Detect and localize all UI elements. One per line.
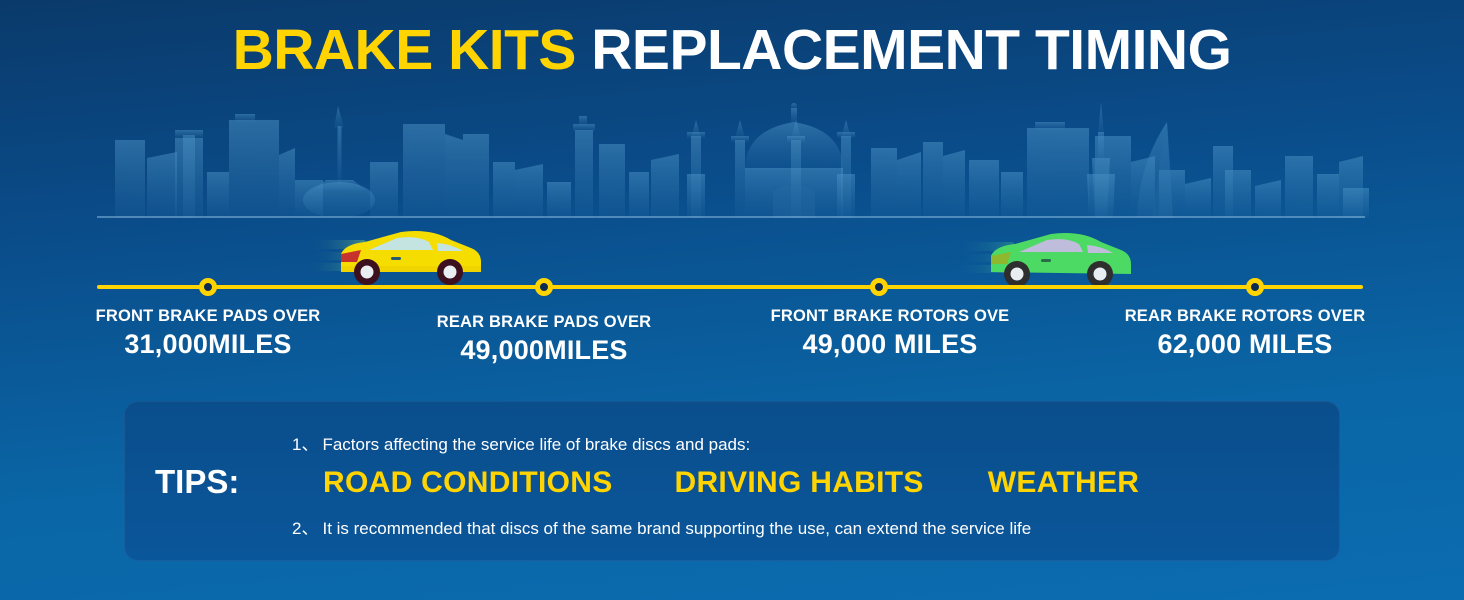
- title-rest: REPLACEMENT TIMING: [591, 18, 1231, 82]
- stop-3-label: FRONT BRAKE ROTORS OVE: [744, 306, 1036, 327]
- stop-2-value: 49,000MILES: [398, 334, 690, 368]
- tips-item-2-number: 2、: [292, 514, 318, 539]
- tips-heading: TIPS:: [155, 463, 239, 501]
- timeline-marker-4[interactable]: [1246, 278, 1264, 296]
- timeline-stop-2: REAR BRAKE PADS OVER 49,000MILES: [398, 312, 690, 367]
- factor-road-conditions: ROAD CONDITIONS: [323, 466, 613, 500]
- infographic-canvas: BRAKE KITS REPLACEMENT TIMING: [0, 0, 1464, 600]
- stop-4-label: REAR BRAKE ROTORS OVER: [1099, 306, 1391, 327]
- title-highlight: BRAKE KITS: [233, 18, 576, 82]
- stop-1-label: FRONT BRAKE PADS OVER: [62, 306, 354, 327]
- timeline-marker-2[interactable]: [535, 278, 553, 296]
- tips-item-1-number: 1、: [292, 430, 318, 455]
- stop-4-value: 62,000 MILES: [1099, 328, 1391, 362]
- timeline-axis: [97, 285, 1363, 289]
- tips-item-1-text: Factors affecting the service life of br…: [322, 435, 750, 454]
- tips-item-1: 1、Factors affecting the service life of …: [292, 430, 750, 455]
- factor-driving-habits: DRIVING HABITS: [675, 466, 924, 500]
- tips-factors: ROAD CONDITIONSDRIVING HABITSWEATHER: [323, 466, 1139, 500]
- tips-item-2: 2、It is recommended that discs of the sa…: [292, 514, 1031, 539]
- green-car-icon: [955, 226, 1140, 288]
- timeline-stop-3: FRONT BRAKE ROTORS OVE 49,000 MILES: [744, 306, 1036, 361]
- timeline-marker-3[interactable]: [870, 278, 888, 296]
- yellow-car-icon: [305, 222, 490, 288]
- stop-3-value: 49,000 MILES: [744, 328, 1036, 362]
- stop-1-value: 31,000MILES: [62, 328, 354, 362]
- timeline-marker-1[interactable]: [199, 278, 217, 296]
- stop-2-label: REAR BRAKE PADS OVER: [398, 312, 690, 333]
- factor-weather: WEATHER: [988, 466, 1140, 500]
- city-skyline-illustration: [95, 100, 1370, 218]
- tips-item-2-text: It is recommended that discs of the same…: [322, 519, 1031, 538]
- header-divider: [97, 216, 1365, 218]
- timeline-stop-4: REAR BRAKE ROTORS OVER 62,000 MILES: [1099, 306, 1391, 361]
- page-title: BRAKE KITS REPLACEMENT TIMING: [0, 22, 1464, 79]
- timeline-stop-1: FRONT BRAKE PADS OVER 31,000MILES: [62, 306, 354, 361]
